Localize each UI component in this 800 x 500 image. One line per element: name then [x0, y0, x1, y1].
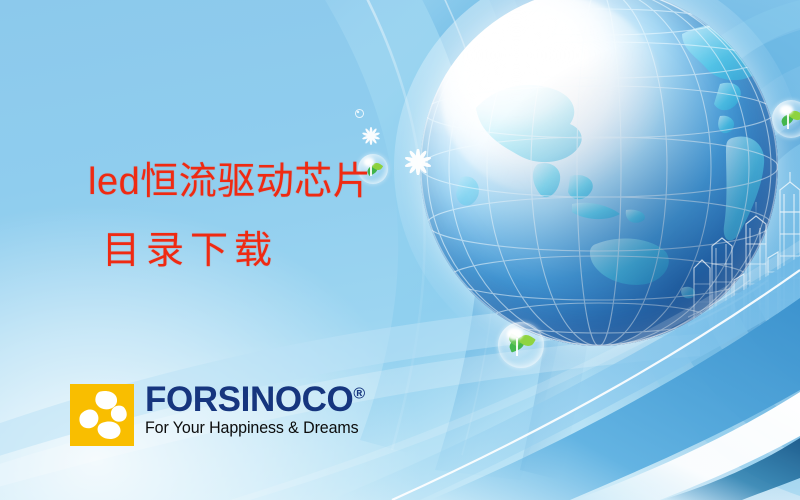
banner-canvas: led恒流驱动芯片 目录下载 FORSINOCO® For Your Happ: [0, 0, 800, 500]
brand-name-text: FORSINOCO: [145, 380, 353, 419]
registered-trademark-icon: ®: [353, 385, 364, 402]
headline-latin-text: led: [88, 161, 140, 203]
flower-small-icon: [362, 127, 380, 145]
logo-wordmark: FORSINOCO® For Your Happiness & Dreams: [145, 382, 365, 438]
bubble-highlight: [780, 105, 793, 115]
logo-mark-tile: [70, 384, 134, 446]
headline-line-1: led恒流驱动芯片: [88, 162, 418, 201]
small-ring-accent-icon: [354, 108, 365, 119]
stem: [787, 114, 789, 129]
four-petal-pinwheel-icon: [70, 384, 134, 446]
brand-name: FORSINOCO®: [145, 382, 365, 417]
stem: [516, 338, 518, 356]
eco-bubble-lower-mid: [498, 322, 544, 368]
brand-tagline: For Your Happiness & Dreams: [145, 419, 359, 438]
headline-line-2: 目录下载: [102, 231, 418, 269]
diagonal-swoosh-bands: [0, 240, 800, 500]
brand-logo[interactable]: FORSINOCO® For Your Happiness & Dreams: [70, 384, 365, 446]
headline: led恒流驱动芯片 目录下载: [88, 162, 418, 269]
headline-cjk-text: 恒流驱动芯片: [140, 159, 371, 203]
